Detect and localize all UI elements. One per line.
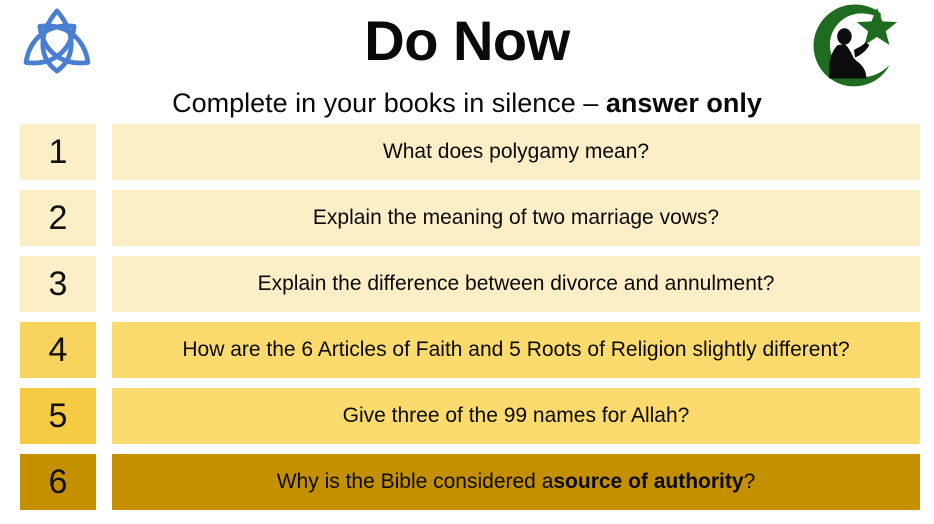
subtitle-bold-text: answer only	[606, 88, 762, 118]
question-text-cell-1: What does polygamy mean?	[112, 124, 920, 180]
islam-star-crescent-icon	[806, 2, 902, 90]
question-number-cell-2: 2	[20, 190, 96, 246]
question-text-2: Explain the meaning of two marriage vows…	[313, 205, 719, 231]
question-text-tail-6: ?	[744, 469, 756, 495]
question-text-4: How are the 6 Articles of Faith and 5 Ro…	[182, 337, 849, 363]
question-text-cell-6: Why is the Bible considered a source of …	[112, 454, 920, 510]
question-number-cell-4: 4	[20, 322, 96, 378]
question-text-cell-5: Give three of the 99 names for Allah?	[112, 388, 920, 444]
triquetra-trinity-icon	[14, 4, 100, 90]
question-number-cell-6: 6	[20, 454, 96, 510]
question-number-2: 2	[49, 201, 68, 235]
question-text-cell-4: How are the 6 Articles of Faith and 5 Ro…	[112, 322, 920, 378]
question-text-5: Give three of the 99 names for Allah?	[343, 403, 690, 429]
question-list: 1 What does polygamy mean? 2 Explain the…	[0, 124, 934, 524]
question-number-cell-1: 1	[20, 124, 96, 180]
question-text-cell-3: Explain the difference between divorce a…	[112, 256, 920, 312]
slide-header: Do Now Complete in your books in silence…	[0, 0, 934, 124]
question-text-cell-2: Explain the meaning of two marriage vows…	[112, 190, 920, 246]
question-number-1: 1	[49, 135, 68, 169]
do-now-slide: Do Now Complete in your books in silence…	[0, 0, 934, 524]
question-row-2[interactable]: 2 Explain the meaning of two marriage vo…	[0, 190, 934, 246]
question-row-5[interactable]: 5 Give three of the 99 names for Allah?	[0, 388, 934, 444]
slide-subtitle: Complete in your books in silence – answ…	[60, 87, 874, 120]
subtitle-plain-text: Complete in your books in silence –	[172, 88, 606, 118]
question-number-6: 6	[49, 465, 68, 499]
question-number-cell-5: 5	[20, 388, 96, 444]
question-row-1[interactable]: 1 What does polygamy mean?	[0, 124, 934, 180]
question-text-bold-6: source of authority	[553, 469, 743, 495]
question-text-3: Explain the difference between divorce a…	[258, 271, 775, 297]
question-number-cell-3: 3	[20, 256, 96, 312]
question-row-6[interactable]: 6 Why is the Bible considered a source o…	[0, 454, 934, 510]
question-text-6: Why is the Bible considered a	[277, 469, 554, 495]
question-row-4[interactable]: 4 How are the 6 Articles of Faith and 5 …	[0, 322, 934, 378]
question-number-4: 4	[49, 333, 68, 367]
question-text-1: What does polygamy mean?	[383, 139, 649, 165]
page-title: Do Now	[110, 6, 824, 76]
question-number-5: 5	[49, 399, 68, 433]
question-row-3[interactable]: 3 Explain the difference between divorce…	[0, 256, 934, 312]
question-number-3: 3	[49, 267, 68, 301]
